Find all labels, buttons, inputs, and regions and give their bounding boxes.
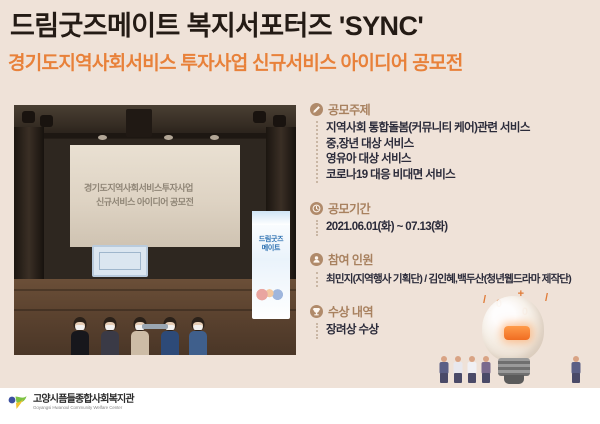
section-period: 공모기간 2021.06.01(화) ~ 07.13(화) bbox=[310, 199, 596, 236]
section-award-header: 수상 내역 bbox=[310, 302, 596, 320]
photo-stage-light bbox=[253, 111, 266, 123]
organization-name-ko: 고양시픔들종합사회복지관 bbox=[33, 394, 134, 405]
organization-logo: 고양시픔들종합사회복지관 Goyangsi Hwanoul Community … bbox=[8, 394, 134, 411]
poster-header: 드림굿즈메이트 복지서포터즈 'SYNC' 경기도지역사회서비스 투자사업 신규… bbox=[0, 0, 600, 90]
section-award: 수상 내역 장려상 수상 bbox=[310, 302, 596, 339]
photo-banner-text: 드림굿즈 메이트 bbox=[255, 235, 287, 253]
welfare-center-logo-icon bbox=[8, 394, 28, 411]
photo-roll-banner: 드림굿즈 메이트 bbox=[252, 211, 290, 319]
section-award-title: 수상 내역 bbox=[328, 303, 373, 320]
bulb-screw-neck bbox=[498, 358, 530, 376]
photo-screen-line2: 신규서비스 아이디어 공모전 bbox=[96, 195, 193, 208]
section-award-body: 장려상 수상 bbox=[316, 323, 596, 339]
section-topic-body: 지역사회 통합돌봄(커뮤니티 케어)관련 서비스 중,장년 대상 서비스 영유아… bbox=[316, 121, 596, 183]
photo-stage-light bbox=[22, 111, 35, 123]
trophy-icon bbox=[310, 305, 323, 318]
clock-icon bbox=[310, 202, 323, 215]
organization-logo-text: 고양시픔들종합사회복지관 Goyangsi Hwanoul Community … bbox=[33, 394, 134, 411]
poster-root: 드림굿즈메이트 복지서포터즈 'SYNC' 경기도지역사회서비스 투자사업 신규… bbox=[0, 0, 600, 424]
section-participants-title: 참여 인원 bbox=[328, 251, 373, 268]
topic-line: 코로나19 대응 비대면 서비스 bbox=[326, 168, 596, 184]
photo-downlight bbox=[210, 135, 219, 140]
photo-downlight bbox=[164, 135, 173, 140]
pushing-person bbox=[480, 356, 492, 382]
section-period-title: 공모기간 bbox=[328, 200, 370, 217]
photo-stage-light bbox=[40, 115, 53, 127]
award-line: 장려상 수상 bbox=[326, 323, 596, 339]
pushing-person bbox=[466, 356, 478, 382]
section-participants-body: 최민지(지역행사 기획단) / 김인혜,백두산(청년웹드라마 제작단) bbox=[316, 272, 596, 288]
info-panel: 공모주제 지역사회 통합돌봄(커뮤니티 케어)관련 서비스 중,장년 대상 서비… bbox=[310, 100, 596, 345]
page-subtitle: 경기도지역사회서비스 투자사업 신규서비스 아이디어 공모전 bbox=[8, 48, 463, 75]
page-title: 드림굿즈메이트 복지서포터즈 'SYNC' bbox=[10, 4, 423, 43]
photo-truss bbox=[14, 133, 296, 138]
event-photo-image: 경기도지역사회서비스투자사업 신규서비스 아이디어 공모전 bbox=[14, 105, 296, 355]
cheering-person bbox=[570, 356, 582, 382]
pencil-icon bbox=[310, 103, 323, 116]
topic-line: 영유아 대상 서비스 bbox=[326, 152, 596, 168]
pushing-person bbox=[438, 356, 450, 382]
photo-speaker bbox=[126, 109, 152, 137]
section-period-header: 공모기간 bbox=[310, 199, 596, 217]
photo-stage-light bbox=[273, 115, 286, 127]
section-period-body: 2021.06.01(화) ~ 07.13(화) bbox=[316, 220, 596, 236]
participants-line: 최민지(지역행사 기획단) / 김인혜,백두산(청년웹드라마 제작단) bbox=[326, 272, 596, 288]
period-line: 2021.06.01(화) ~ 07.13(화) bbox=[326, 220, 596, 236]
event-photo: 경기도지역사회서비스투자사업 신규서비스 아이디어 공모전 bbox=[14, 105, 296, 355]
section-topic-title: 공모주제 bbox=[328, 101, 370, 118]
photo-projection-screen: 경기도지역사회서비스투자사업 신규서비스 아이디어 공모전 bbox=[70, 145, 240, 247]
organization-name-en: Goyangsi Hwanoul Community Welfare Cente… bbox=[33, 405, 134, 411]
topic-line: 지역사회 통합돌봄(커뮤니티 케어)관련 서비스 bbox=[326, 121, 596, 137]
poster-footer: 고양시픔들종합사회복지관 Goyangsi Hwanoul Community … bbox=[0, 388, 600, 424]
person-icon bbox=[310, 253, 323, 266]
section-topic: 공모주제 지역사회 통합돌봄(커뮤니티 케어)관련 서비스 중,장년 대상 서비… bbox=[310, 100, 596, 183]
section-topic-header: 공모주제 bbox=[310, 100, 596, 118]
section-participants-header: 참여 인원 bbox=[310, 251, 596, 269]
photo-downlight bbox=[98, 135, 107, 140]
photo-banner-stand bbox=[142, 324, 168, 329]
topic-line: 중,장년 대상 서비스 bbox=[326, 137, 596, 153]
pushing-person bbox=[452, 356, 464, 382]
section-participants: 참여 인원 최민지(지역행사 기획단) / 김인혜,백두산(청년웹드라마 제작단… bbox=[310, 251, 596, 288]
photo-screen-line1: 경기도지역사회서비스투자사업 bbox=[84, 181, 193, 194]
photo-flower-bouquet bbox=[110, 233, 128, 255]
bulb-base bbox=[504, 375, 524, 384]
